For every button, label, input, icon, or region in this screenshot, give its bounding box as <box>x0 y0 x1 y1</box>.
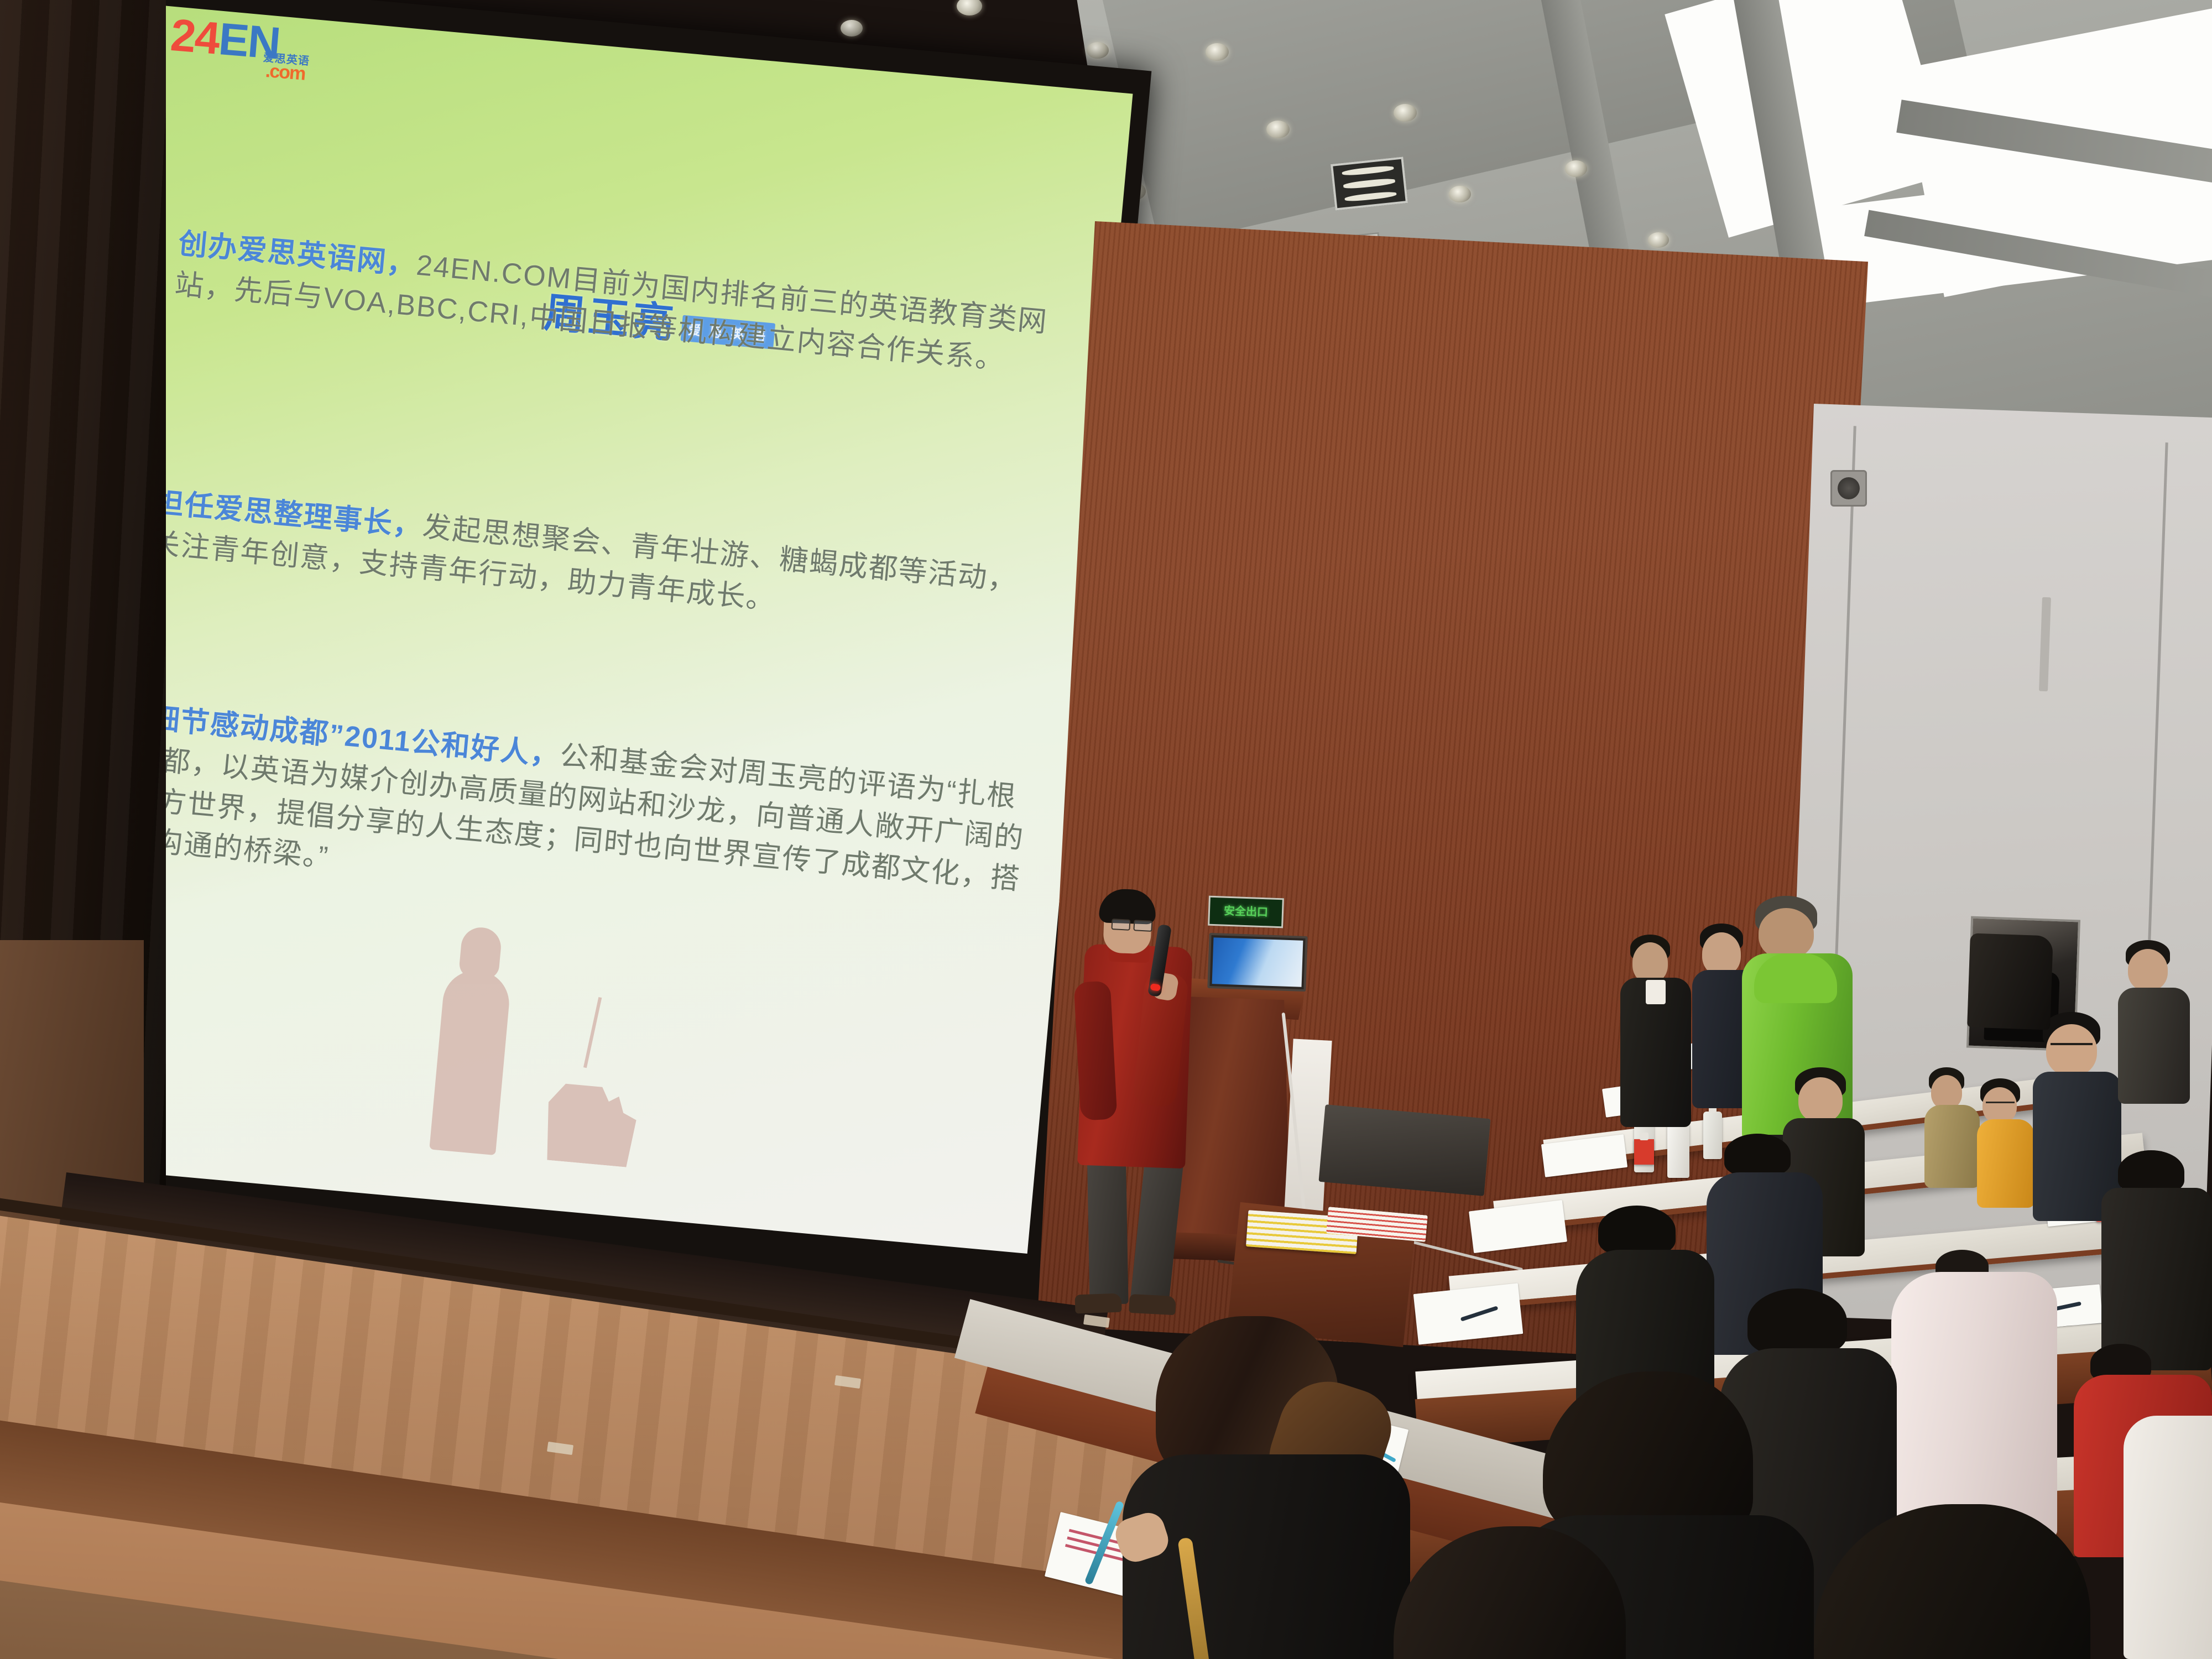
ceiling-downlight-12 <box>1648 232 1669 248</box>
slide-paragraph-3: “细节感动成都”2011公和好人，公和基金会对周玉亮的评语为“扎根成都，以英语为… <box>122 697 1029 941</box>
ceiling-downlight-5 <box>1266 121 1290 138</box>
person-hair <box>1598 1206 1676 1255</box>
laptop-screen <box>1212 937 1303 987</box>
glasses-icon <box>1986 1102 2015 1110</box>
speaker-shoe-right <box>1129 1294 1176 1315</box>
ceiling-downlight-13 <box>841 20 863 36</box>
exit-sign-text: 安全出口 <box>1224 906 1269 919</box>
speaker-left-arm <box>1074 980 1118 1120</box>
glasses-icon <box>2051 1043 2093 1054</box>
ceiling-downlight-14 <box>1087 42 1109 59</box>
projected-slide: 24EN 爱思英语 .com 周玉亮爱 思 英 语 创办爱思英语网，24EN.C… <box>45 4 1133 1254</box>
person-head <box>1632 942 1668 983</box>
speaker-shoe-left <box>1074 1293 1121 1314</box>
person-head <box>2128 949 2168 991</box>
person-torso <box>1924 1105 1980 1188</box>
ceiling-downlight-4 <box>1206 43 1229 61</box>
person-pink-coat <box>1891 1272 2057 1537</box>
hanging-coats <box>1967 933 2053 1030</box>
shadow-silhouette-equipment <box>539 1060 645 1168</box>
person-head <box>1798 1077 1843 1123</box>
thermos-1 <box>1667 1123 1689 1178</box>
person-torso <box>2101 1188 2212 1370</box>
ceiling-downlight-1 <box>957 0 982 15</box>
person-coat-hood <box>1754 953 1837 1003</box>
slide-paragraph-3-body: 公和基金会对周玉亮的评语为“扎根成都，以英语为媒介创办高质量的网站和沙龙，向普通… <box>123 740 1025 896</box>
exit-sign: 安全出口 <box>1208 896 1284 928</box>
projection-screen: 24EN 爱思英语 .com 周玉亮爱 思 英 语 创办爱思英语网，24EN.C… <box>7 0 1151 1393</box>
person-head <box>1759 908 1814 959</box>
ceiling-downlight-8 <box>1449 186 1471 202</box>
person-head <box>1702 932 1741 975</box>
logo-24-text: 24 <box>169 10 221 64</box>
logo-domain-text: .com <box>265 61 310 84</box>
water-bottle-red-label <box>1634 1139 1654 1165</box>
stage-floor-monitor <box>1318 1104 1490 1196</box>
shadow-silhouette-person <box>429 968 512 1156</box>
shadow-silhouette-antenna <box>583 997 602 1068</box>
laptop-on-podium[interactable] <box>1207 933 1307 992</box>
person-black-jacket <box>1123 1454 1410 1659</box>
slide-paragraph-1: 创办爱思英语网，24EN.COM目前为国内排名前三的英语教育类网站，先后与VOA… <box>173 224 1073 387</box>
ceiling-downlight-7 <box>1394 104 1417 122</box>
slide-paragraph-2: 担任爱思整理事长，发起思想聚会、青年壮游、糖蝎成都等活动，关注青年创意，支持青年… <box>149 483 1049 645</box>
person-hair <box>1724 1134 1791 1176</box>
thermos-red-2 <box>1703 1112 1722 1159</box>
brand-logo-24en: 24EN 爱思英语 .com <box>168 13 312 84</box>
person-hair <box>1747 1288 1847 1355</box>
lecture-hall-photo: 24EN 爱思英语 .com 周玉亮爱 思 英 语 创办爱思英语网，24EN.C… <box>0 0 2212 1659</box>
person-torso <box>1977 1119 2034 1208</box>
glasses-icon <box>1112 919 1153 930</box>
person-torso <box>2118 988 2190 1104</box>
person-white-coat <box>2124 1416 2212 1659</box>
wall-mounted-speaker <box>1830 470 1867 507</box>
ceiling-downlight-9 <box>1565 160 1587 177</box>
ceiling-light-grille-1 <box>1331 156 1408 210</box>
person-head <box>1931 1075 1962 1109</box>
person-hair <box>2118 1150 2184 1193</box>
person-shirt-collar <box>1646 980 1666 1004</box>
